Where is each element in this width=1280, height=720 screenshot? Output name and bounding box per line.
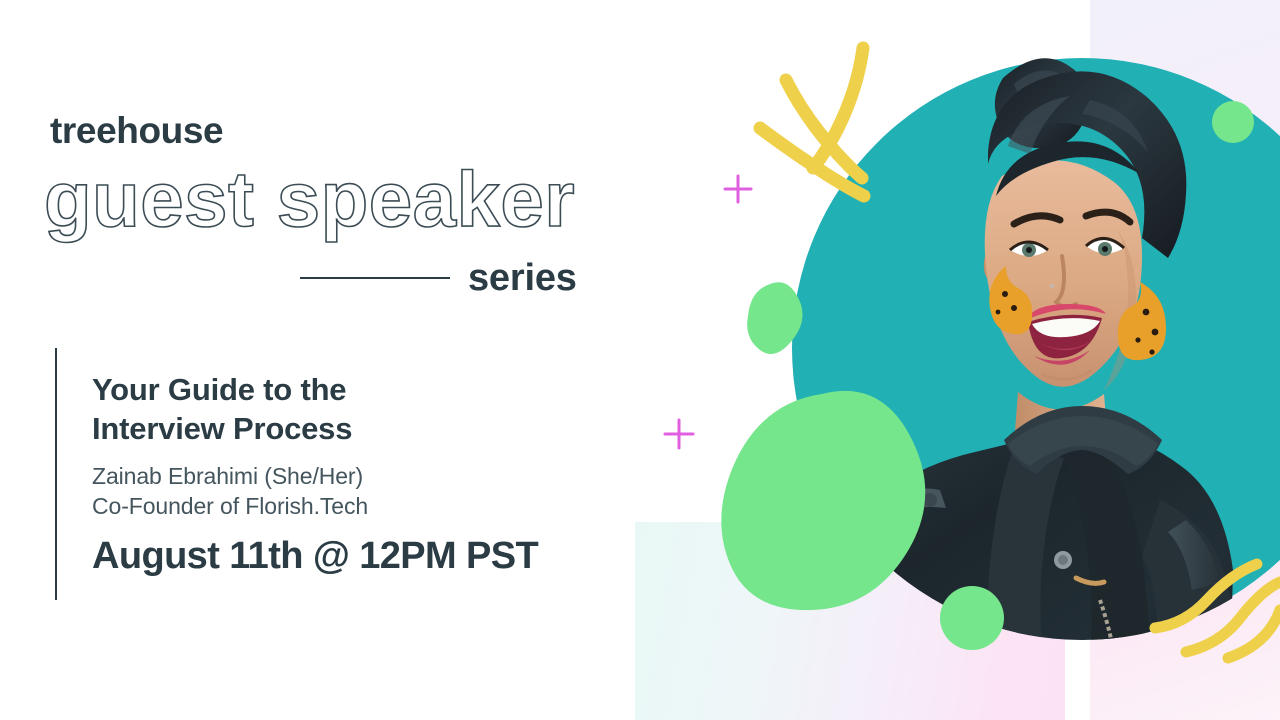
promo-graphic: treehouse guest speaker series Your Guid… (0, 0, 1280, 720)
left-accent-rule (55, 348, 57, 600)
talk-title-line-2: Interview Process (92, 409, 562, 448)
series-row: series (300, 256, 630, 300)
series-divider-rule (300, 277, 450, 279)
decorative-artwork (0, 0, 1280, 720)
green-blob-circle (940, 586, 1004, 650)
magenta-plus-marks (665, 176, 751, 448)
speaker-block: Zainab Ebrahimi (She/Her) Co-Founder of … (92, 461, 612, 522)
green-dot-top-right (1212, 101, 1254, 143)
series-label: series (468, 259, 577, 297)
talk-title: Your Guide to the Interview Process (92, 370, 562, 448)
talk-title-line-1: Your Guide to the (92, 370, 562, 409)
plus-mark-lower (665, 420, 693, 448)
plus-mark-upper (725, 176, 751, 202)
event-datetime: August 11th @ 12PM PST (92, 536, 538, 578)
green-blob-large (721, 391, 925, 610)
brand-wordmark: treehouse (50, 112, 223, 149)
speaker-name: Zainab Ebrahimi (She/Her) (92, 461, 612, 491)
headline-outline: guest speaker (44, 160, 575, 238)
speaker-role: Co-Founder of Florish.Tech (92, 491, 612, 521)
yellow-spark-strokes (760, 48, 864, 196)
